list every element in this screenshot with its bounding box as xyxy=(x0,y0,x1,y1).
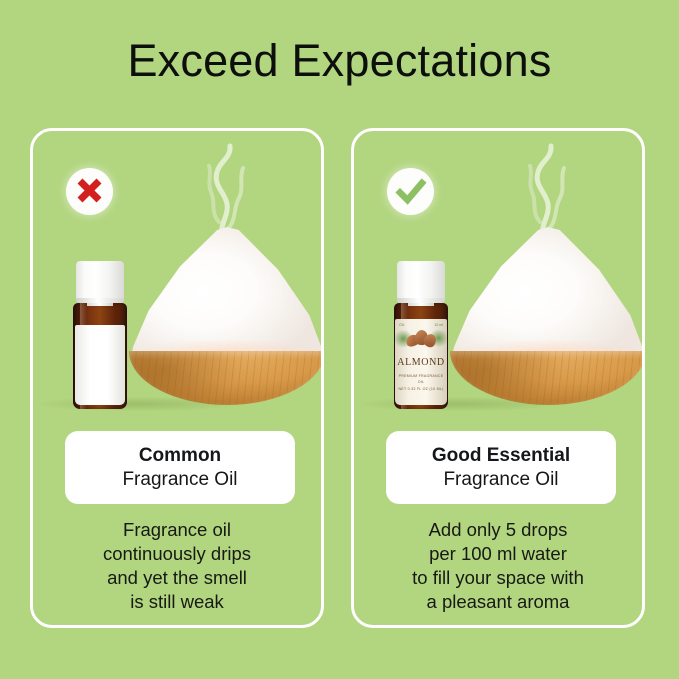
red-x-icon xyxy=(66,168,113,215)
oil-bottle-almond: OIL 10 ml ALMOND PREMIUM FRAGRANCE OIL N… xyxy=(394,261,448,409)
label-corner-marks: OIL 10 ml xyxy=(395,323,447,327)
oil-bottle-common xyxy=(73,261,127,409)
green-check-icon xyxy=(387,168,434,215)
infographic-canvas: Exceed Expectations xyxy=(0,0,679,679)
drop-shadow xyxy=(360,397,556,411)
diffuser-device xyxy=(450,227,642,405)
caption-good-essential: Add only 5 drops per 100 ml water to fil… xyxy=(362,518,634,614)
label-subtitle: PREMIUM FRAGRANCE OIL NET 0.33 FL OZ (10… xyxy=(395,373,447,392)
status-badge-negative xyxy=(66,168,113,215)
caption-line: a pleasant aroma xyxy=(362,590,634,614)
label-subtitle-line2: NET 0.33 FL OZ (10 ML) xyxy=(395,386,447,392)
label-scent-name: ALMOND xyxy=(395,357,447,368)
label-corner-right: 10 ml xyxy=(434,323,443,327)
caption-common: Fragrance oil continuously drips and yet… xyxy=(41,518,313,614)
plate-kind: Fragrance Oil xyxy=(443,468,558,492)
product-scene-common xyxy=(33,131,321,421)
name-plate-good-essential: Good Essential Fragrance Oil xyxy=(386,431,616,504)
bottle-cap xyxy=(76,261,124,303)
name-plate-common: Common Fragrance Oil xyxy=(65,431,295,504)
caption-line: is still weak xyxy=(41,590,313,614)
caption-line: Add only 5 drops xyxy=(362,518,634,542)
almond-illustration-icon xyxy=(406,329,436,351)
comparison-card-good-essential: OIL 10 ml ALMOND PREMIUM FRAGRANCE OIL N… xyxy=(351,128,645,628)
caption-line: and yet the smell xyxy=(41,566,313,590)
bottle-label-almond: OIL 10 ml ALMOND PREMIUM FRAGRANCE OIL N… xyxy=(395,319,447,405)
status-badge-positive xyxy=(387,168,434,215)
diffuser-device xyxy=(129,227,321,405)
plate-kind: Fragrance Oil xyxy=(122,468,237,492)
product-scene-good-essential: OIL 10 ml ALMOND PREMIUM FRAGRANCE OIL N… xyxy=(354,131,642,421)
caption-line: Fragrance oil xyxy=(41,518,313,542)
bottle-label-blank xyxy=(75,325,125,405)
label-subtitle-line1: PREMIUM FRAGRANCE OIL xyxy=(395,373,447,386)
plate-brand: Common xyxy=(139,444,221,468)
caption-line: continuously drips xyxy=(41,542,313,566)
bottle-cap xyxy=(397,261,445,303)
comparison-card-common: Common Fragrance Oil Fragrance oil conti… xyxy=(30,128,324,628)
page-title: Exceed Expectations xyxy=(0,36,679,86)
caption-line: per 100 ml water xyxy=(362,542,634,566)
plate-brand: Good Essential xyxy=(432,444,570,468)
drop-shadow xyxy=(39,397,235,411)
label-corner-left: OIL xyxy=(399,323,405,327)
caption-line: to fill your space with xyxy=(362,566,634,590)
